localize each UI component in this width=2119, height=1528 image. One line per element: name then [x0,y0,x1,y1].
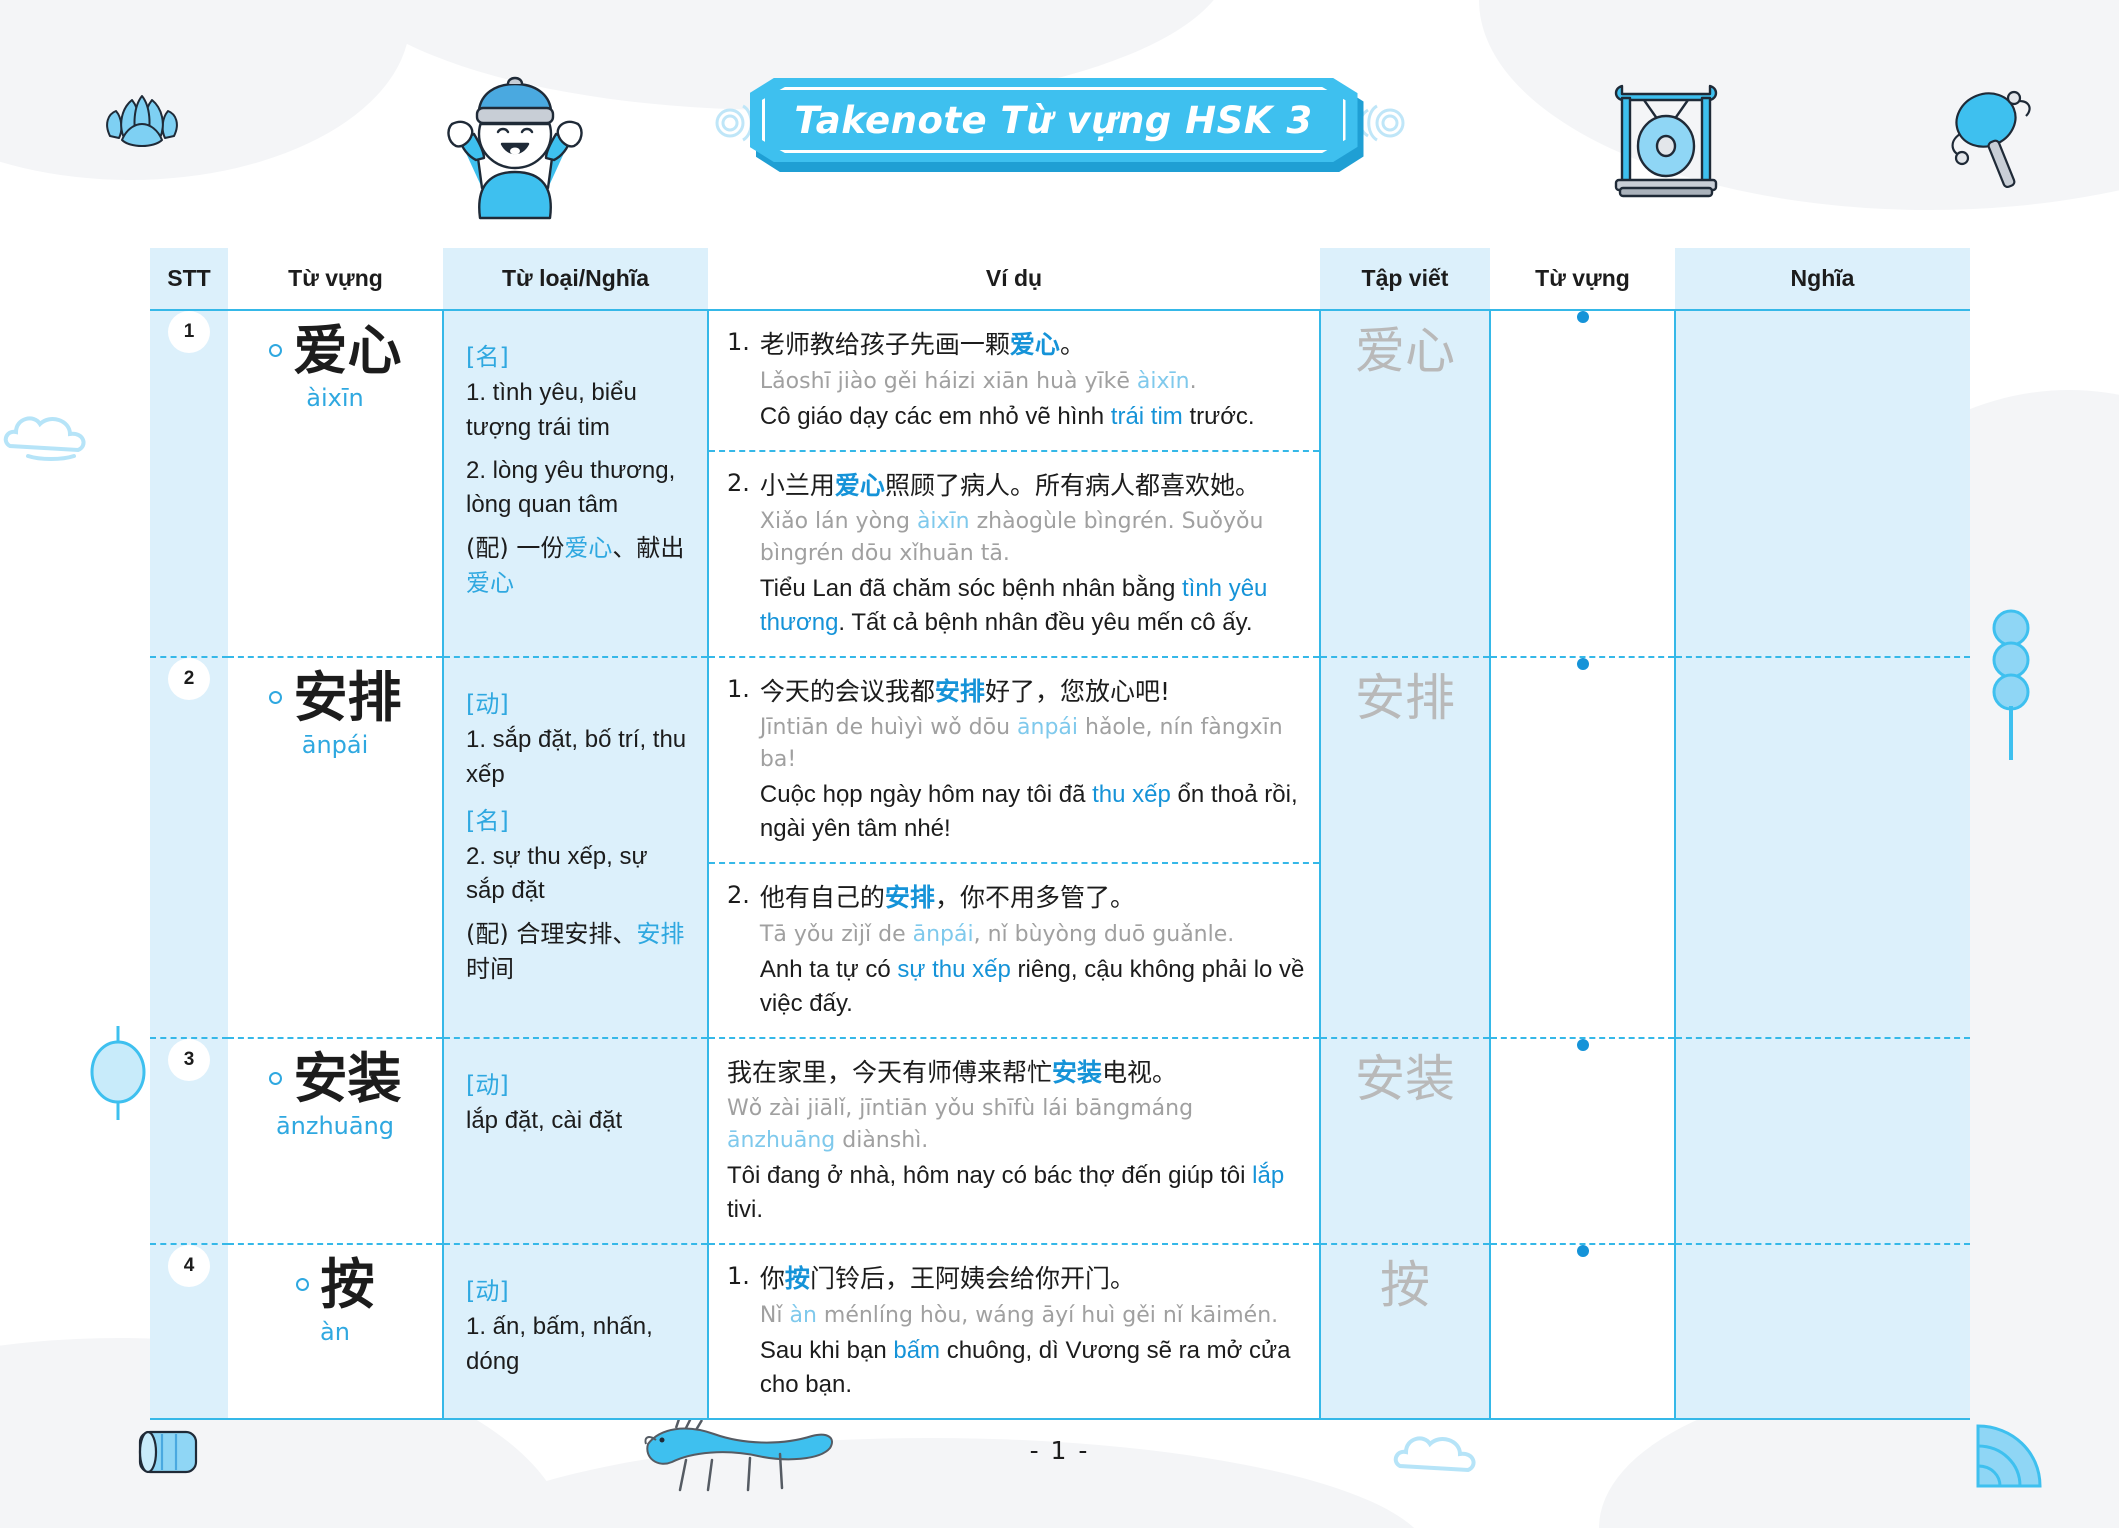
example-group: 1.老师教给孩子先画一颗爱心。Lǎoshī jiào gěi háizi xiā… [709,311,1319,450]
row-number-badge: 3 [168,1039,210,1081]
column-header-example: Ví dụ [708,248,1320,310]
example-chinese: 老师教给孩子先画一颗爱心。 [760,327,1305,363]
word-hanzi: 爱心 [294,321,402,380]
example-pinyin: Lǎoshī jiào gěi háizi xiān huà yīkē àixī… [760,366,1305,397]
cell-stt: 1 [150,310,228,657]
example-vietnamese: Cuộc họp ngày hôm nay tôi đã thu xếp ổn … [760,778,1305,846]
bullet-icon [269,1072,282,1085]
cell-word: 爱心àixīn [228,310,443,657]
vocabulary-sheet: STT Từ vựng Từ loại/Nghĩa Ví dụ Tập viết… [150,248,1970,1420]
example-group: 2.小兰用爱心照顾了病人。所有病人都喜欢她。Xiǎo lán yòng àixī… [709,450,1319,656]
bullet-icon [269,691,282,704]
cell-meaning-blank[interactable] [1675,1038,1970,1244]
cell-example: 我在家里，今天有师傅来帮忙安装电视。Wǒ zài jiālǐ, jīntiān … [708,1038,1320,1244]
row-number-badge: 1 [168,311,210,353]
cell-stt: 2 [150,657,228,1038]
ghost-character: 安排 [1321,658,1489,730]
cell-stt: 3 [150,1038,228,1244]
page-header: Takenote Từ vựng HSK 3 [0,0,2119,240]
dot-marker-icon [1577,1039,1589,1051]
example-number: 1. [727,327,750,434]
example-group: 2.他有自己的安排，你不用多管了。Tā yǒu zìjǐ de ānpái, n… [709,862,1319,1037]
example-chinese: 小兰用爱心照顾了病人。所有病人都喜欢她。 [760,468,1305,504]
row-number-badge: 4 [168,1245,210,1287]
cell-write-practice[interactable]: 按 [1320,1244,1490,1419]
example-vietnamese: Cô giáo dạy các em nhỏ vẽ hình trái tim … [760,400,1305,434]
word-pinyin: ānpái [232,731,438,759]
column-header-word: Từ vựng [228,248,443,310]
dot-marker-icon [1577,658,1589,670]
example-number: 2. [727,880,750,1021]
example-pinyin: Xiǎo lán yòng àixīn zhàogùle bìngrén. Su… [760,506,1305,568]
example-group: 我在家里，今天有师傅来帮忙安装电视。Wǒ zài jiālǐ, jīntiān … [709,1039,1319,1243]
example-vietnamese: Tiểu Lan đã chăm sóc bệnh nhân bằng tình… [760,572,1305,640]
example-chinese: 他有自己的安排，你不用多管了。 [760,880,1305,916]
tanghulu-icon [1966,600,2056,770]
cell-type: [动]lắp đặt, cài đặt [443,1038,708,1244]
cell-type: [动]1. ấn, bấm, nhấn, dóng [443,1244,708,1419]
definition-text: 2. sự thu xếp, sự sắp đặt [466,840,691,910]
cell-example: 1.你按门铃后，王阿姨会给你开门。Nǐ àn ménlíng hòu, wáng… [708,1244,1320,1419]
cell-type: [名]1. tình yêu, biểu tượng trái tim2. lò… [443,310,708,657]
example-vietnamese: Anh ta tự có sự thu xếp riêng, cậu không… [760,953,1305,1021]
cell-word: 安装ānzhuāng [228,1038,443,1244]
dot-marker-icon [1577,1245,1589,1257]
column-header-stt: STT [150,248,228,310]
table-body: 1爱心àixīn[名]1. tình yêu, biểu tượng trái … [150,310,1970,1419]
word-hanzi: 安排 [294,668,402,727]
definition-text: 1. ấn, bấm, nhấn, dóng [466,1310,691,1380]
example-vietnamese: Tôi đang ở nhà, hôm nay có bác thợ đến g… [727,1159,1305,1227]
ghost-character: 按 [1321,1245,1489,1317]
row-number-badge: 2 [168,658,210,700]
example-vietnamese: Sau khi bạn bấm chuông, dì Vương sẽ ra m… [760,1334,1305,1402]
cell-meaning-blank[interactable] [1675,1244,1970,1419]
cell-vocab-blank[interactable] [1490,1244,1675,1419]
column-header-vocab2: Từ vựng [1490,248,1675,310]
definition-text: 2. lòng yêu thương, lòng quan tâm [466,454,691,524]
column-header-meaning: Nghĩa [1675,248,1970,310]
page-title: Takenote Từ vựng HSK 3 [794,99,1312,142]
collocation-text: (配) 合理安排、安排时间 [466,917,691,987]
example-number: 1. [727,674,750,846]
page-number: - 1 - [1030,1436,1090,1465]
example-chinese: 我在家里，今天有师傅来帮忙安装电视。 [727,1055,1305,1091]
example-pinyin: Wǒ zài jiālǐ, jīntiān yǒu shīfù lái bāng… [727,1093,1305,1155]
cell-vocab-blank[interactable] [1490,657,1675,1038]
example-group: 1.你按门铃后，王阿姨会给你开门。Nǐ àn ménlíng hòu, wáng… [709,1245,1319,1418]
cell-vocab-blank[interactable] [1490,1038,1675,1244]
definition-text: 1. sắp đặt, bố trí, thu xếp [466,723,691,793]
example-chinese: 今天的会议我都安排好了，您放心吧! [760,674,1305,710]
bullet-icon [296,1278,309,1291]
cell-meaning-blank[interactable] [1675,657,1970,1038]
word-class-tag: [动] [466,684,691,719]
table-row: 3安装ānzhuāng[动]lắp đặt, cài đặt我在家里，今天有师傅… [150,1038,1970,1244]
cell-example: 1.老师教给孩子先画一颗爱心。Lǎoshī jiào gěi háizi xiā… [708,310,1320,657]
column-header-type: Từ loại/Nghĩa [443,248,708,310]
title-banner: Takenote Từ vựng HSK 3 [750,78,1370,168]
word-hanzi: 按 [321,1255,375,1314]
cell-type: [动]1. sắp đặt, bố trí, thu xếp[名]2. sự t… [443,657,708,1038]
word-class-tag: [动] [466,1065,691,1100]
cell-stt: 4 [150,1244,228,1419]
dot-marker-icon [1577,311,1589,323]
definition-text: 1. tình yêu, biểu tượng trái tim [466,376,691,446]
cell-write-practice[interactable]: 爱心 [1320,310,1490,657]
lantern-icon [78,1020,158,1130]
cell-word: 按àn [228,1244,443,1419]
cell-word: 安排ānpái [228,657,443,1038]
table-row: 4按àn[动]1. ấn, bấm, nhấn, dóng1.你按门铃后，王阿姨… [150,1244,1970,1419]
example-pinyin: Nǐ àn ménlíng hòu, wáng āyí huì gěi nǐ k… [760,1300,1305,1331]
cell-meaning-blank[interactable] [1675,310,1970,657]
word-class-tag: [名] [466,801,691,836]
example-number: 2. [727,468,750,640]
cloud-icon [0,390,110,470]
word-pinyin: ānzhuāng [232,1112,438,1140]
ghost-character: 爱心 [1321,311,1489,383]
example-number: 1. [727,1261,750,1402]
table-row: 1爱心àixīn[名]1. tình yêu, biểu tượng trái … [150,310,1970,657]
cell-vocab-blank[interactable] [1490,310,1675,657]
cell-write-practice[interactable]: 安装 [1320,1038,1490,1244]
cell-write-practice[interactable]: 安排 [1320,657,1490,1038]
word-class-tag: [名] [466,337,691,372]
word-pinyin: àixīn [232,384,438,412]
column-header-write: Tập viết [1320,248,1490,310]
vocabulary-table: STT Từ vựng Từ loại/Nghĩa Ví dụ Tập viết… [150,248,1970,1420]
bullet-icon [269,344,282,357]
table-header: STT Từ vựng Từ loại/Nghĩa Ví dụ Tập viết… [150,248,1970,310]
example-chinese: 你按门铃后，王阿姨会给你开门。 [760,1261,1305,1297]
table-header-row: STT Từ vựng Từ loại/Nghĩa Ví dụ Tập viết… [150,248,1970,310]
word-class-tag: [动] [466,1271,691,1306]
example-pinyin: Tā yǒu zìjǐ de ānpái, nǐ bùyòng duō guǎn… [760,919,1305,950]
word-pinyin: àn [232,1318,438,1346]
collocation-text: (配) 一份爱心、献出爱心 [466,531,691,601]
cell-example: 1.今天的会议我都安排好了，您放心吧!Jīntiān de huìyì wǒ d… [708,657,1320,1038]
table-row: 2安排ānpái[动]1. sắp đặt, bố trí, thu xếp[名… [150,657,1970,1038]
example-pinyin: Jīntiān de huìyì wǒ dōu ānpái hǎole, nín… [760,712,1305,774]
ghost-character: 安装 [1321,1039,1489,1111]
definition-text: lắp đặt, cài đặt [466,1104,691,1139]
example-group: 1.今天的会议我都安排好了，您放心吧!Jīntiān de huìyì wǒ d… [709,658,1319,862]
banner-body: Takenote Từ vựng HSK 3 [750,78,1358,162]
word-hanzi: 安装 [294,1049,402,1108]
